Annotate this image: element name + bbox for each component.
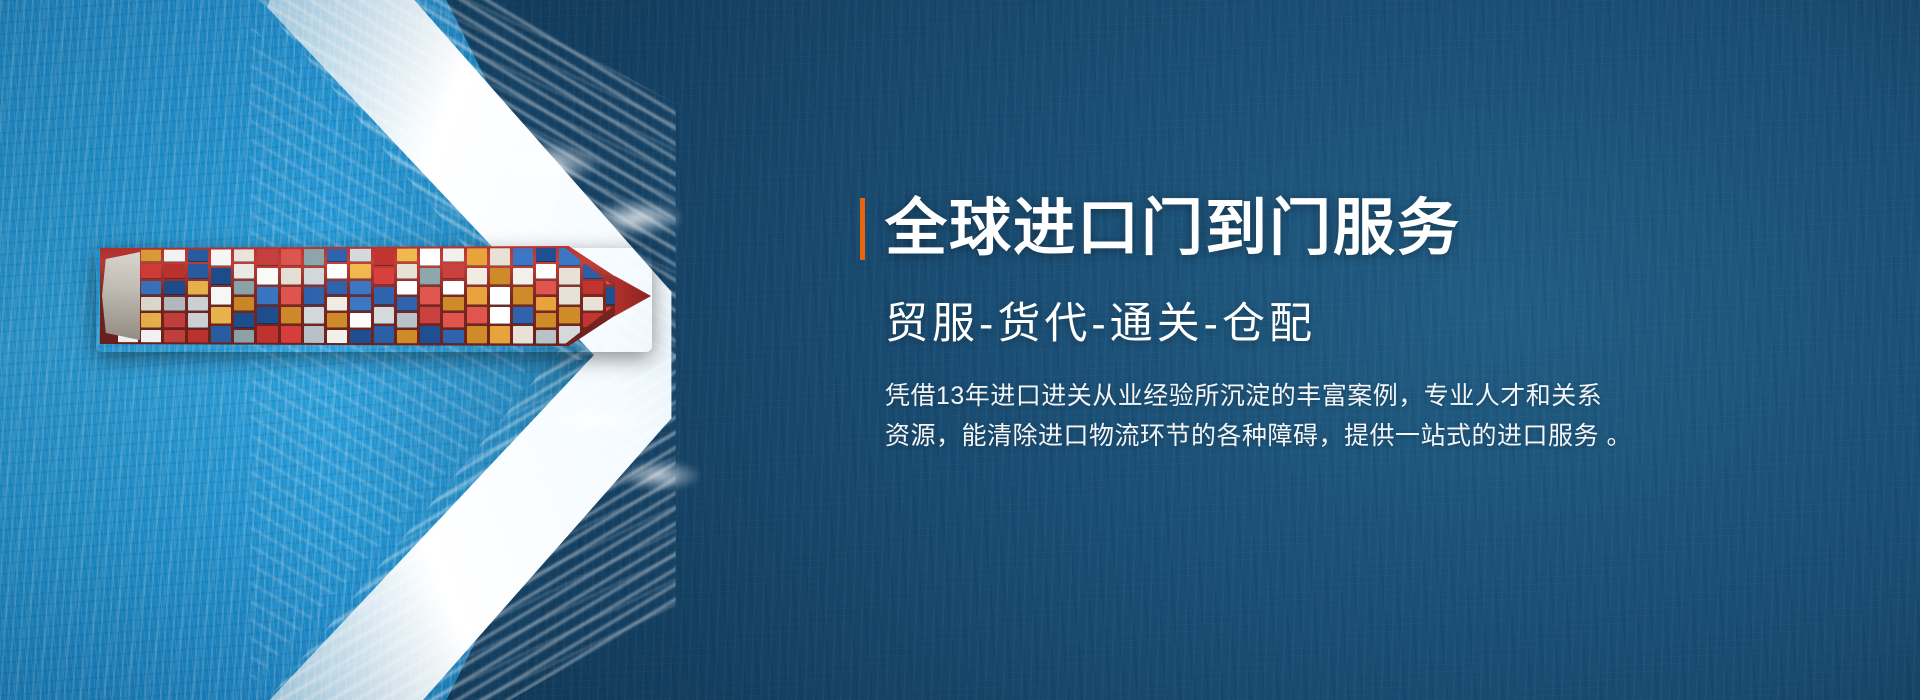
container-bay <box>490 248 510 344</box>
shipping-container <box>257 248 277 266</box>
shipping-container <box>304 307 324 325</box>
shipping-container <box>583 281 603 295</box>
container-bay <box>257 248 277 344</box>
shipping-container <box>327 313 347 327</box>
shipping-container <box>141 313 161 327</box>
shipping-container <box>304 248 324 266</box>
shipping-container <box>467 248 487 266</box>
description-line-2: 资源，能清除进口物流环节的各种障碍，提供一站式的进口服务 。 <box>885 417 1605 457</box>
shipping-container <box>559 307 579 325</box>
shipping-container <box>327 248 347 262</box>
shipping-container <box>443 281 463 295</box>
container-bay <box>281 248 301 344</box>
bow-wake-foam <box>250 0 680 700</box>
container-bay <box>327 248 347 344</box>
shipping-container <box>397 313 417 327</box>
shipping-container <box>188 264 208 278</box>
container-bay <box>188 248 208 344</box>
description-text: 凭借13年进口进关从业经验所沉淀的丰富案例，专业人才和关系 资源，能清除进口物流… <box>885 377 1605 456</box>
shipping-container <box>490 268 510 286</box>
shipping-container <box>467 307 487 325</box>
shipping-container <box>350 330 370 344</box>
hero-banner: 全球进口门到门服务 贸服-货代-通关-仓配 凭借13年进口进关从业经验所沉淀的丰… <box>0 0 1920 700</box>
shipping-container <box>513 268 533 286</box>
shipping-container <box>164 248 184 262</box>
shipping-container <box>467 326 487 344</box>
shipping-container <box>234 281 254 295</box>
shipping-container <box>327 281 347 295</box>
shipping-container <box>374 248 394 266</box>
shipping-container <box>281 248 301 266</box>
shipping-container <box>536 297 556 311</box>
shipping-container <box>420 248 440 266</box>
shipping-container <box>304 326 324 344</box>
shipping-container <box>211 326 231 344</box>
shipping-container <box>397 281 417 295</box>
shipping-container <box>443 264 463 278</box>
shipping-container <box>257 268 277 286</box>
shipping-container <box>164 330 184 344</box>
container-bay <box>164 248 184 344</box>
shipping-container <box>397 330 417 344</box>
headline-row: 全球进口门到门服务 <box>860 198 1660 260</box>
container-bay <box>350 248 370 344</box>
shipping-container <box>420 307 440 325</box>
shipping-container <box>350 313 370 327</box>
container-bay <box>513 248 533 344</box>
container-bay <box>397 248 417 344</box>
shipping-container <box>420 268 440 286</box>
shipping-container <box>141 297 161 311</box>
description-line-1: 凭借13年进口进关从业经验所沉淀的丰富案例，专业人才和关系 <box>885 377 1605 417</box>
shipping-container <box>234 248 254 262</box>
shipping-container <box>374 326 394 344</box>
shipping-container <box>188 330 208 344</box>
shipping-container <box>164 313 184 327</box>
shipping-container <box>211 307 231 325</box>
shipping-container <box>234 330 254 344</box>
shipping-container <box>211 287 231 305</box>
shipping-container <box>327 297 347 311</box>
accent-bar-icon <box>860 198 865 260</box>
container-bay <box>141 248 161 344</box>
shipping-container <box>350 264 370 278</box>
shipping-container <box>536 330 556 344</box>
shipping-container <box>234 264 254 278</box>
shipping-container <box>536 313 556 327</box>
shipping-container <box>443 297 463 311</box>
shipping-container <box>443 248 463 262</box>
shipping-container <box>536 281 556 295</box>
shipping-container <box>327 330 347 344</box>
shipping-container <box>513 307 533 325</box>
shipping-container <box>281 287 301 305</box>
shipping-container <box>443 313 463 327</box>
container-bay <box>211 248 231 344</box>
page-subtitle: 贸服-货代-通关-仓配 <box>885 302 1660 347</box>
shipping-container <box>188 248 208 262</box>
shipping-container <box>141 248 161 262</box>
shipping-container <box>350 281 370 295</box>
shipping-container <box>164 297 184 311</box>
container-bay <box>443 248 463 344</box>
shipping-container <box>583 297 603 311</box>
shipping-container <box>467 268 487 286</box>
shipping-container <box>397 264 417 278</box>
shipping-container <box>350 248 370 262</box>
container-bay <box>304 248 324 344</box>
container-ship <box>100 246 645 346</box>
shipping-container <box>281 326 301 344</box>
shipping-container <box>490 307 510 325</box>
shipping-container <box>420 326 440 344</box>
shipping-container <box>559 287 579 305</box>
shipping-container <box>374 307 394 325</box>
shipping-container <box>304 287 324 305</box>
shipping-container <box>188 297 208 311</box>
shipping-container <box>141 281 161 295</box>
shipping-container <box>490 326 510 344</box>
shipping-container <box>211 248 231 266</box>
shipping-container <box>374 287 394 305</box>
page-title: 全球进口门到门服务 <box>885 198 1461 260</box>
container-stacks <box>118 248 626 344</box>
shipping-container <box>141 264 161 278</box>
shipping-container <box>164 264 184 278</box>
shipping-container <box>281 268 301 286</box>
shipping-container <box>536 248 556 262</box>
shipping-container <box>606 326 626 344</box>
shipping-container <box>327 264 347 278</box>
shipping-container <box>257 326 277 344</box>
shipping-container <box>559 268 579 286</box>
shipping-container <box>490 248 510 266</box>
container-bay <box>467 248 487 344</box>
container-bay <box>374 248 394 344</box>
shipping-container <box>188 313 208 327</box>
shipping-container <box>467 287 487 305</box>
shipping-container <box>513 248 533 266</box>
shipping-container <box>606 248 626 266</box>
shipping-container <box>374 268 394 286</box>
shipping-container <box>513 326 533 344</box>
shipping-container <box>257 307 277 325</box>
shipping-container <box>141 330 161 344</box>
shipping-container <box>304 268 324 286</box>
container-bay <box>559 248 579 344</box>
shipping-container <box>164 281 184 295</box>
shipping-container <box>490 287 510 305</box>
shipping-container <box>257 287 277 305</box>
shipping-container <box>397 248 417 262</box>
container-bay <box>234 248 254 344</box>
shipping-container <box>536 264 556 278</box>
shipping-container <box>281 307 301 325</box>
container-bay <box>536 248 556 344</box>
shipping-container <box>443 330 463 344</box>
shipping-container <box>234 313 254 327</box>
shipping-container <box>513 287 533 305</box>
shipping-container <box>211 268 231 286</box>
hero-text-block: 全球进口门到门服务 贸服-货代-通关-仓配 凭借13年进口进关从业经验所沉淀的丰… <box>860 198 1660 456</box>
shipping-container <box>234 297 254 311</box>
ship-bridge <box>102 252 140 340</box>
shipping-container <box>420 287 440 305</box>
shipping-container <box>188 281 208 295</box>
shipping-container <box>397 297 417 311</box>
container-bay <box>420 248 440 344</box>
shipping-container <box>350 297 370 311</box>
